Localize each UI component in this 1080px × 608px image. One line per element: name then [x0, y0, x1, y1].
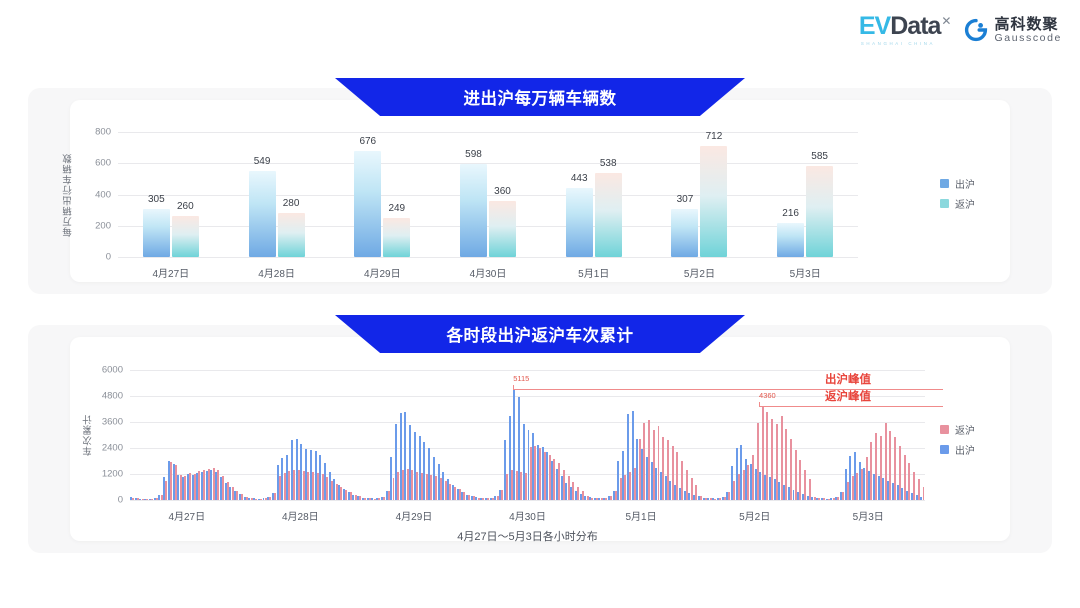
chart2-plot: 车次累计 4月27日～5月3日各小时分布 0120024003600480060…	[130, 370, 925, 500]
chart1-bar-返沪	[278, 213, 305, 257]
chart2-x-tick: 5月2日	[739, 508, 770, 523]
chart1-bar-value: 305	[148, 194, 165, 205]
chart1-bar-返沪	[172, 216, 199, 257]
chart2-annotation-label: 返沪峰值	[825, 388, 871, 404]
evdata-x-icon: ✕	[941, 15, 950, 27]
chart1-y-tick: 200	[95, 220, 111, 231]
chart1-y-axis-label: 每万辆出行车辆数	[62, 153, 76, 237]
chart2-gridline	[130, 370, 925, 371]
chart1-gridline	[118, 226, 858, 227]
chart2-legend-swatch	[940, 445, 949, 454]
chart2-x-tick: 4月30日	[509, 508, 546, 523]
chart2-x-tick: 5月3日	[853, 508, 884, 523]
chart2-y-tick: 1200	[102, 469, 123, 480]
chart2-annotation-line	[759, 406, 943, 407]
chart2-legend-label: 返沪	[955, 422, 975, 437]
chart1-bar-value: 585	[811, 151, 828, 162]
chart2-gridline	[130, 422, 925, 423]
chart1-x-tick: 5月1日	[578, 265, 609, 280]
chart1-bar-出沪	[566, 188, 593, 257]
chart1-y-tick: 400	[95, 189, 111, 200]
chart1-bar-value: 216	[782, 208, 799, 219]
chart2-y-tick: 2400	[102, 443, 123, 454]
evdata-letter-v: V	[875, 14, 891, 39]
chart1-x-tick: 4月29日	[364, 265, 401, 280]
chart1-bar-value: 443	[571, 173, 588, 184]
chart1-bar-返沪	[489, 201, 516, 257]
chart2-annotation-cap	[759, 402, 760, 407]
chart2-x-tick: 4月27日	[168, 508, 205, 523]
chart2-annotation-line	[513, 389, 943, 390]
chart1-bar-返沪	[383, 218, 410, 257]
chart1-bar-value: 249	[388, 203, 405, 214]
chart1-gridline	[118, 163, 858, 164]
chart2-annotation-value: 4360	[759, 391, 776, 400]
chart1-bar-返沪	[595, 173, 622, 257]
chart1-legend-item[interactable]: 返沪	[940, 196, 975, 211]
gausscode-mark-icon	[964, 18, 988, 42]
chart1-bar-value: 549	[254, 156, 271, 167]
chart2-y-tick: 0	[118, 495, 123, 506]
chart1-plot: 每万辆出行车辆数 02004006008004月27日3052604月28日54…	[118, 132, 858, 257]
chart2-y-tick: 6000	[102, 365, 123, 376]
chart1-title: 进出沪每万辆车辆数	[335, 78, 745, 116]
chart2-x-tick: 4月29日	[396, 508, 433, 523]
gausscode-text: 高科数聚 Gausscode	[994, 17, 1062, 44]
chart1-x-tick: 4月30日	[470, 265, 507, 280]
chart1-legend-item[interactable]: 出沪	[940, 176, 975, 191]
chart2-legend-swatch	[940, 425, 949, 434]
chart2-y-tick: 3600	[102, 417, 123, 428]
chart1-x-tick: 4月28日	[258, 265, 295, 280]
chart1-bar-value: 598	[465, 149, 482, 160]
slide-root: EVData✕ SHANGHAI CHINA 高科数聚 Gausscode 进出…	[0, 0, 1080, 608]
chart1-bar-value: 538	[600, 158, 617, 169]
chart1-legend-label: 出沪	[955, 176, 975, 191]
chart1-legend: 出沪返沪	[940, 176, 975, 211]
chart1-bar-value: 307	[677, 194, 694, 205]
chart2-legend: 返沪出沪	[940, 422, 975, 457]
chart1-bar-value: 360	[494, 186, 511, 197]
gausscode-logo: 高科数聚 Gausscode	[964, 17, 1062, 44]
chart1-bar-返沪	[700, 146, 727, 257]
chart1-y-tick: 800	[95, 127, 111, 138]
chart2-gridline	[130, 396, 925, 397]
chart1-bar-value: 712	[706, 131, 723, 142]
chart1-bar-出沪	[143, 209, 170, 257]
chart2-annotation-cap	[513, 385, 514, 390]
chart1-bar-出沪	[249, 171, 276, 257]
chart1-bar-出沪	[460, 164, 487, 257]
chart1-bar-value: 260	[177, 201, 194, 212]
chart2-annotation-value: 5115	[513, 374, 529, 383]
evdata-letter-data: Data	[890, 14, 940, 39]
gausscode-name-cn: 高科数聚	[994, 17, 1062, 33]
chart2-x-tick: 5月1日	[626, 508, 657, 523]
chart2-annotation-label: 出沪峰值	[825, 371, 871, 387]
chart1-bar-value: 280	[283, 198, 300, 209]
chart2-y-axis-label: 车次累计	[82, 414, 96, 456]
chart1-legend-label: 返沪	[955, 196, 975, 211]
chart2-bar-ret	[923, 487, 925, 500]
chart1-bar-出沪	[354, 151, 381, 257]
chart1-bar-出沪	[671, 209, 698, 257]
chart2-y-tick: 4800	[102, 391, 123, 402]
chart1-bar-value: 676	[359, 136, 376, 147]
chart2-x-axis-label: 4月27日～5月3日各小时分布	[130, 528, 925, 544]
chart1-gridline	[118, 195, 858, 196]
chart1-x-tick: 5月3日	[790, 265, 821, 280]
evdata-letter-e: E	[859, 14, 875, 39]
evdata-tagline: SHANGHAI CHINA	[861, 42, 935, 46]
chart1-bar-返沪	[806, 166, 833, 257]
chart1-y-tick: 600	[95, 158, 111, 169]
chart1-y-tick: 0	[106, 252, 111, 263]
chart1-gridline	[118, 132, 858, 133]
chart1-bar-出沪	[777, 223, 804, 257]
brand-header: EVData✕ SHANGHAI CHINA 高科数聚 Gausscode	[859, 14, 1062, 46]
chart2-legend-item[interactable]: 出沪	[940, 442, 975, 457]
evdata-wordmark: EVData✕	[859, 14, 951, 39]
chart1-gridline	[118, 257, 858, 258]
evdata-logo: EVData✕ SHANGHAI CHINA	[859, 14, 951, 46]
chart2-x-tick: 4月28日	[282, 508, 319, 523]
chart1-legend-swatch	[940, 179, 949, 188]
chart2-legend-item[interactable]: 返沪	[940, 422, 975, 437]
chart2-title: 各时段出沪返沪车次累计	[335, 315, 745, 353]
chart1-x-tick: 5月2日	[684, 265, 715, 280]
chart2-gridline	[130, 500, 925, 501]
chart1-legend-swatch	[940, 199, 949, 208]
gausscode-name-en: Gausscode	[994, 33, 1062, 44]
chart2-legend-label: 出沪	[955, 442, 975, 457]
chart1-x-tick: 4月27日	[153, 265, 190, 280]
